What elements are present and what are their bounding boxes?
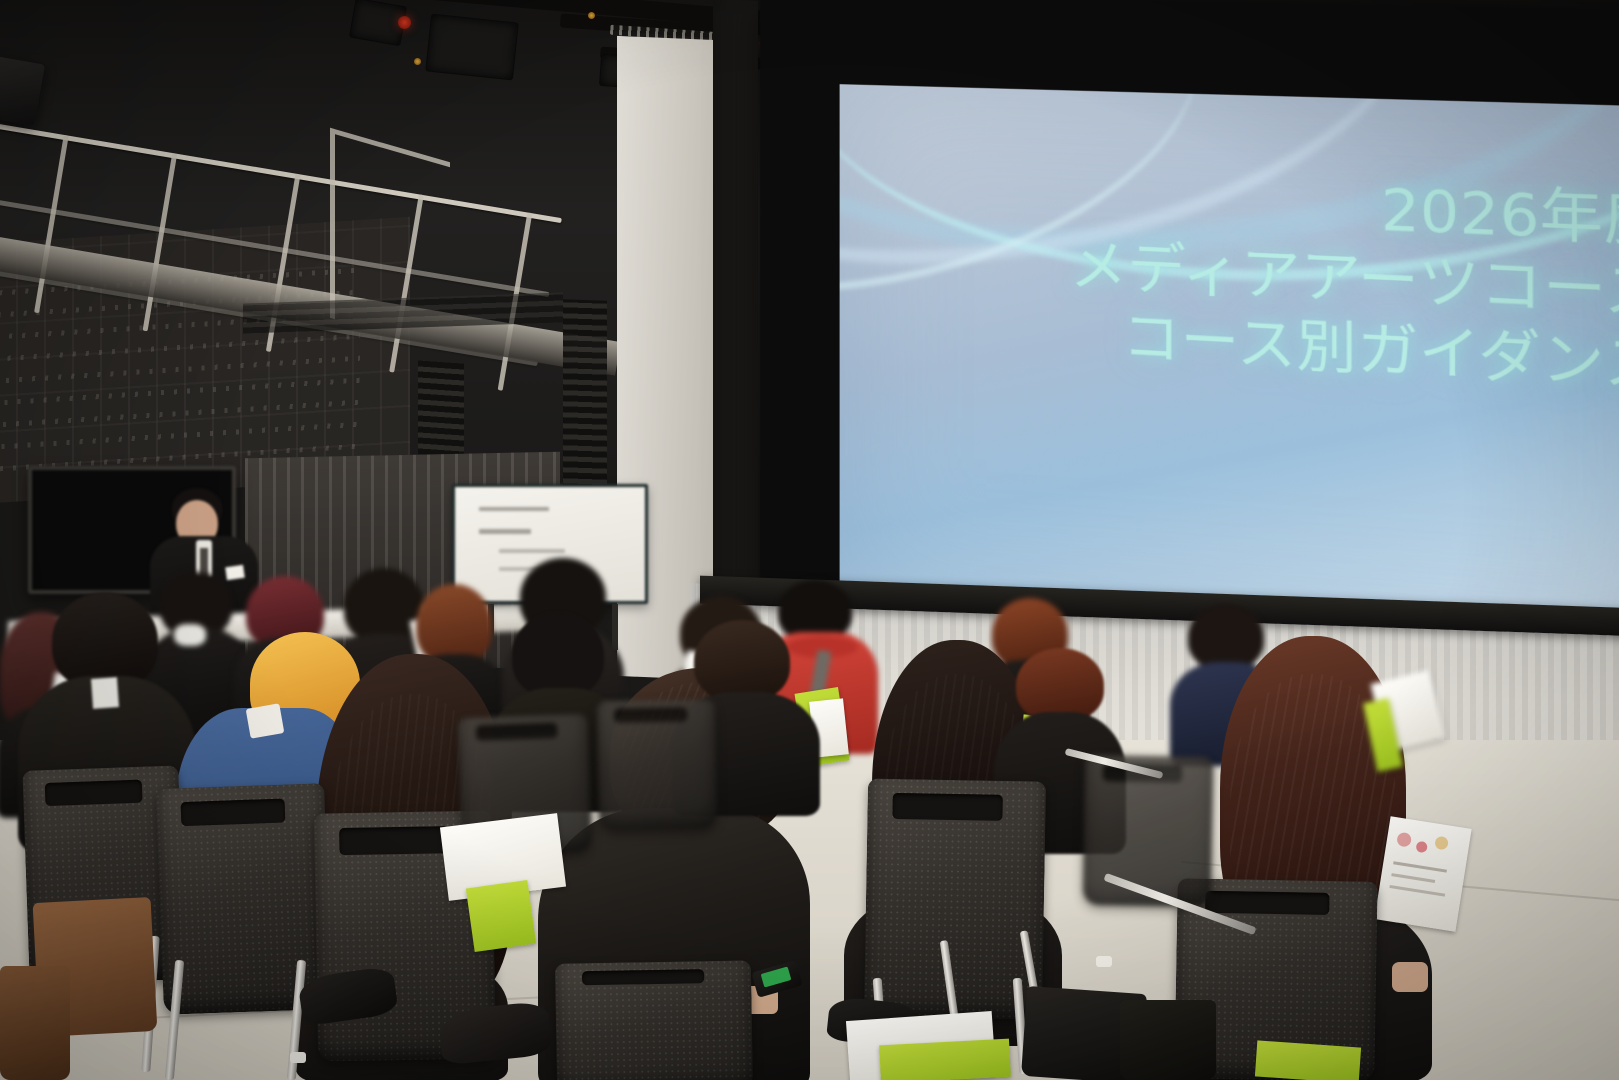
chair <box>1083 755 1214 907</box>
whiteboard-writing <box>499 549 565 553</box>
slide-title-block: 2026年度 メディアアーツコース コース別ガイダンス <box>1070 164 1619 403</box>
paper-line <box>1389 885 1445 897</box>
handout-folder <box>1255 1040 1361 1080</box>
chair <box>555 960 753 1080</box>
whiteboard-writing <box>479 507 549 511</box>
projected-slide: 2026年度 メディアアーツコース コース別ガイダンス <box>840 84 1619 668</box>
paper-chart-dot <box>1396 832 1412 848</box>
paper-line <box>1391 873 1435 883</box>
truss-indicator-light <box>414 58 421 65</box>
handout-folder <box>466 880 536 952</box>
handout-paper <box>1374 816 1471 932</box>
truss-indicator-light <box>398 16 411 29</box>
black-shoulder-bag <box>1120 1000 1216 1080</box>
brown-tote-bag <box>0 966 70 1080</box>
whiteboard-writing <box>479 529 531 534</box>
truss-indicator-light <box>588 12 595 19</box>
shirt-collar <box>246 703 285 738</box>
chair-glide <box>1096 956 1112 967</box>
chair <box>597 699 717 831</box>
paper-chart-dot <box>1434 836 1449 851</box>
chair-glide <box>290 1052 306 1063</box>
hand <box>1392 962 1428 992</box>
handout-folder <box>879 1039 1011 1080</box>
stage-light-fixture <box>425 14 519 81</box>
shirt-collar <box>91 677 119 709</box>
paper-line <box>1393 861 1447 872</box>
paper-chart-dot <box>1415 841 1428 854</box>
photo-scene: 2026年度 メディアアーツコース コース別ガイダンス <box>0 0 1619 1080</box>
